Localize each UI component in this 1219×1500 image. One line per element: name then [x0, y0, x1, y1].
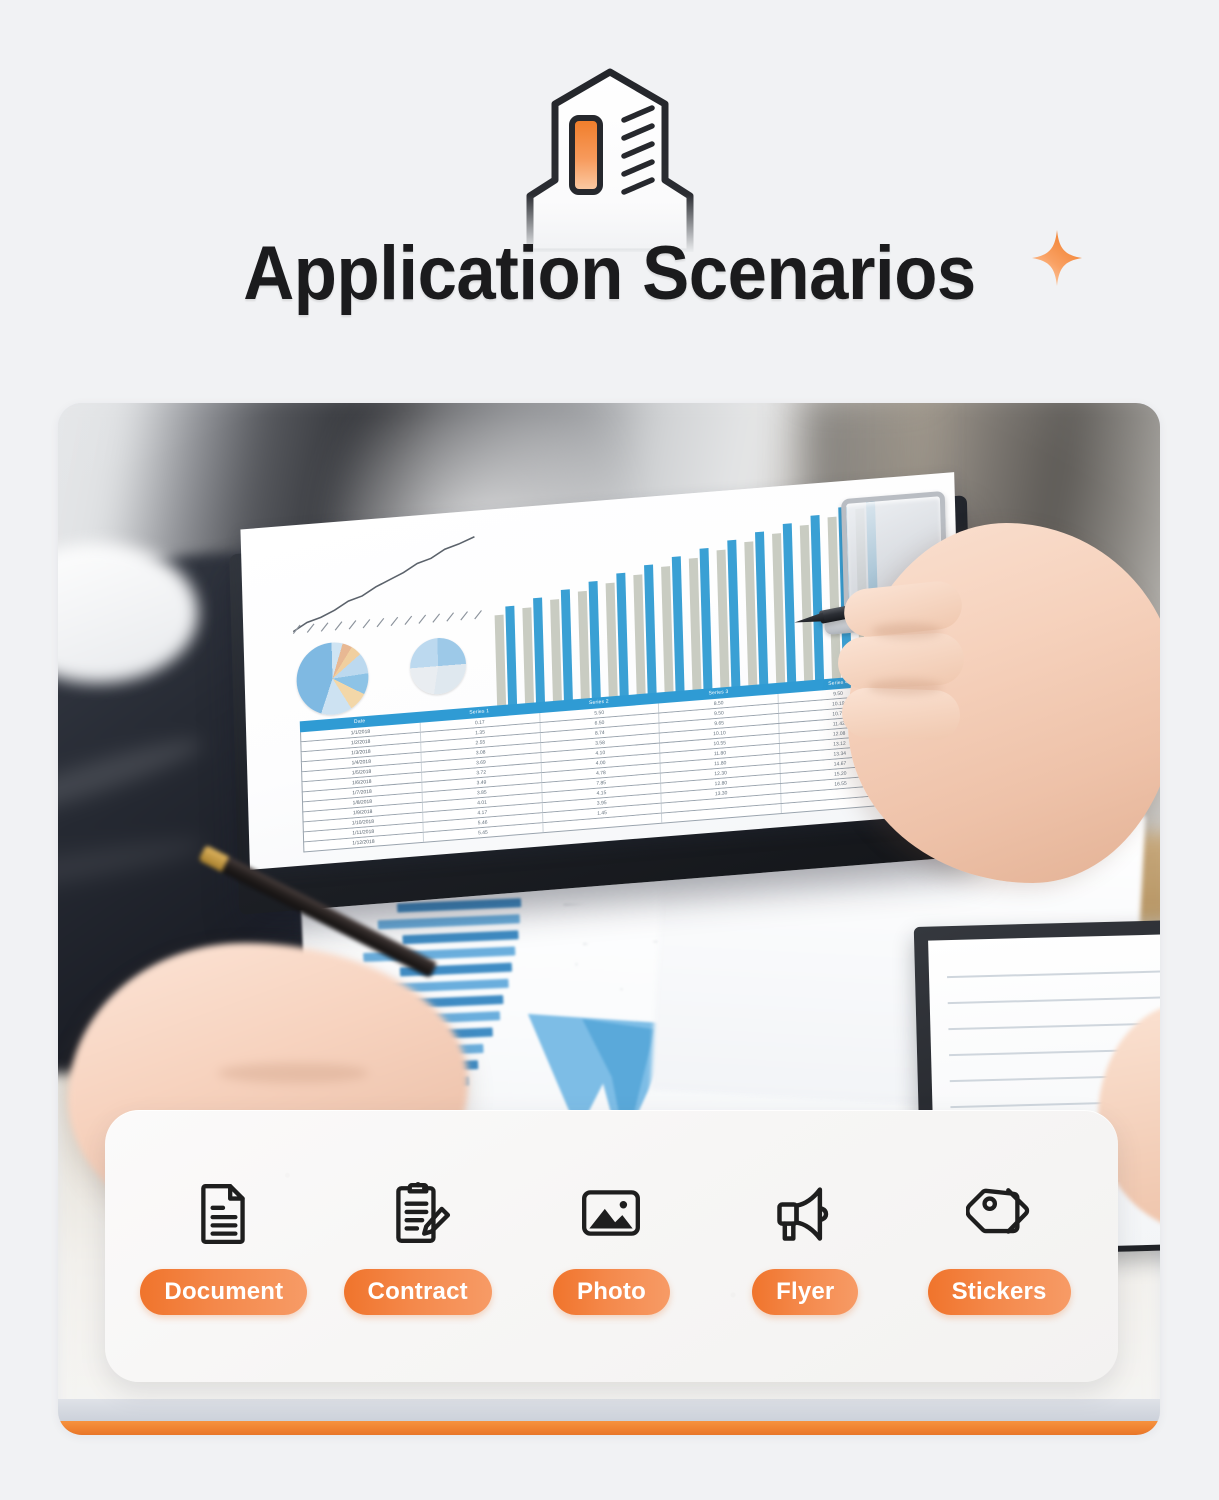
photo-card-base	[58, 1399, 1160, 1421]
suit-fold	[58, 728, 207, 828]
megaphone-icon	[769, 1177, 841, 1249]
table-body: 1/1/20180.175.508.509.501/2/20181.356.50…	[300, 684, 901, 852]
page-title: Application Scenarios	[43, 236, 1177, 312]
header-section: Application Scenarios	[0, 0, 1219, 390]
suit-fold	[58, 831, 208, 902]
chip-label-pill[interactable]: Document	[140, 1269, 307, 1315]
chip-label-pill[interactable]: Photo	[553, 1269, 670, 1315]
building-skyscraper-icon	[500, 62, 720, 252]
chip-label-pill[interactable]: Flyer	[752, 1269, 858, 1315]
sparkle-star-icon	[1030, 228, 1084, 288]
price-tags-icon	[963, 1177, 1035, 1249]
clipboard-pencil-icon	[382, 1177, 454, 1249]
pie-chart-multi-slice	[296, 640, 370, 718]
scenario-chip-flyer[interactable]: Flyer	[714, 1177, 896, 1315]
scenario-chip-photo[interactable]: Photo	[520, 1177, 702, 1315]
report-data-table: Date Series 1 Series 2 Series 3 Series 4…	[300, 673, 902, 852]
scenario-chip-contract[interactable]: Contract	[327, 1177, 509, 1315]
chip-label-pill[interactable]: Stickers	[928, 1269, 1071, 1315]
application-scenarios-page: Application Scenarios	[0, 0, 1219, 1500]
chip-row: DocumentContractPhotoFlyerStickers	[105, 1110, 1118, 1382]
photo-card-orange-accent	[58, 1421, 1160, 1435]
image-photo-icon	[575, 1177, 647, 1249]
ascending-line-chart	[285, 531, 497, 640]
application-scenario-chips: DocumentContractPhotoFlyerStickers	[105, 1110, 1118, 1382]
paired-bar-chart	[492, 498, 886, 707]
scenario-chip-document[interactable]: Document	[133, 1177, 315, 1315]
pie-chart-four-slice	[409, 636, 466, 697]
document-file-icon	[188, 1177, 260, 1249]
chip-label-pill[interactable]: Contract	[344, 1269, 492, 1315]
scenario-chip-stickers[interactable]: Stickers	[908, 1177, 1090, 1315]
